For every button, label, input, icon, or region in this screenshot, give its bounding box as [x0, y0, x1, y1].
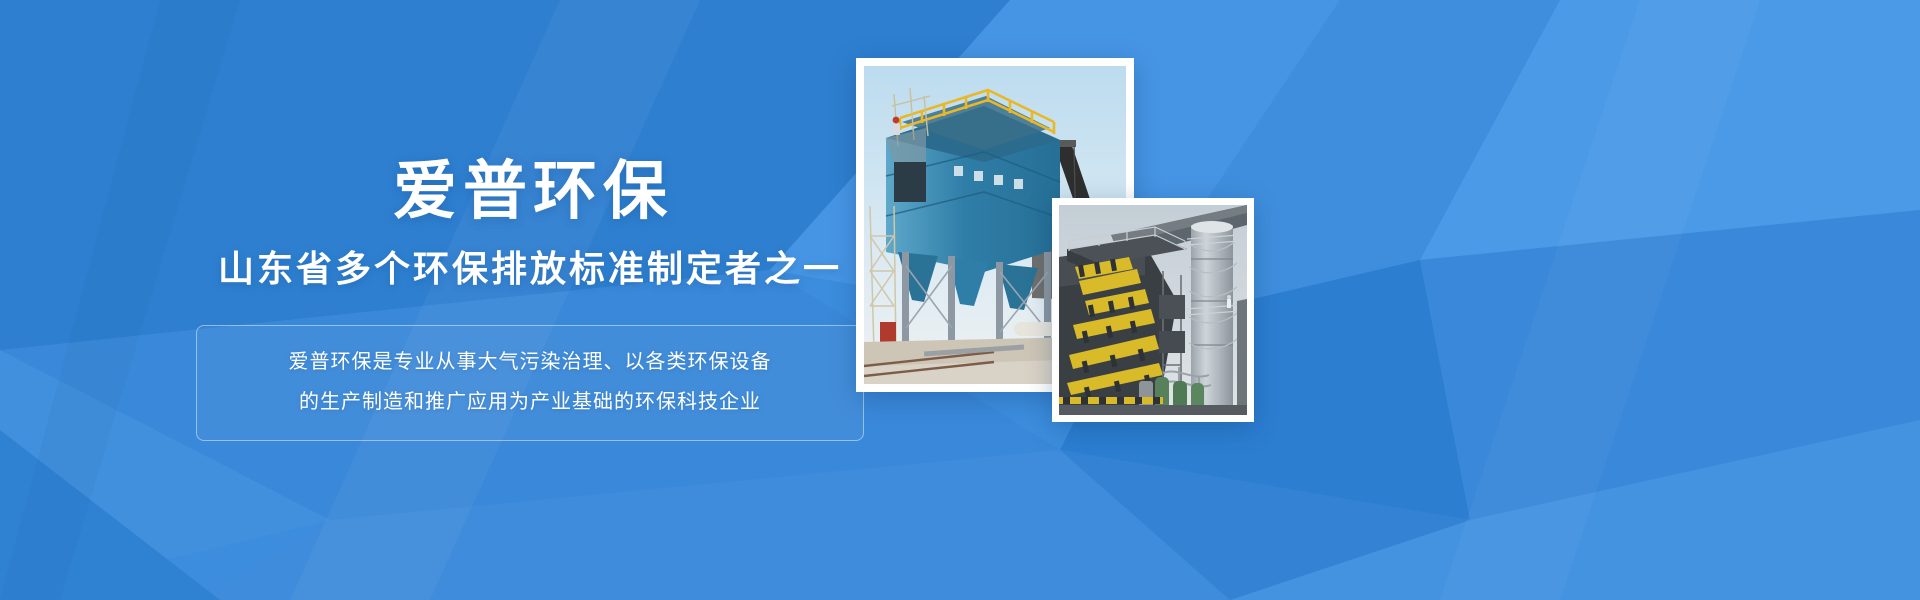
photo-desulfurization-tower-plant	[1052, 198, 1254, 422]
photo-desulfurization-inner	[1059, 205, 1247, 415]
brand-title: 爱普环保	[393, 159, 673, 223]
description-line-1: 爱普环保是专业从事大气污染治理、以各类环保设备	[289, 350, 772, 374]
description-box: 爱普环保是专业从事大气污染治理、以各类环保设备 的生产制造和推广应用为产业基础的…	[196, 325, 864, 441]
description-line-2: 的生产制造和推广应用为产业基础的环保科技企业	[299, 390, 761, 414]
hero-banner: 爱普环保 山东省多个环保排放标准制定者之一 爱普环保是专业从事大气污染治理、以各…	[0, 0, 1920, 600]
banner-subtitle: 山东省多个环保排放标准制定者之一	[218, 251, 842, 287]
